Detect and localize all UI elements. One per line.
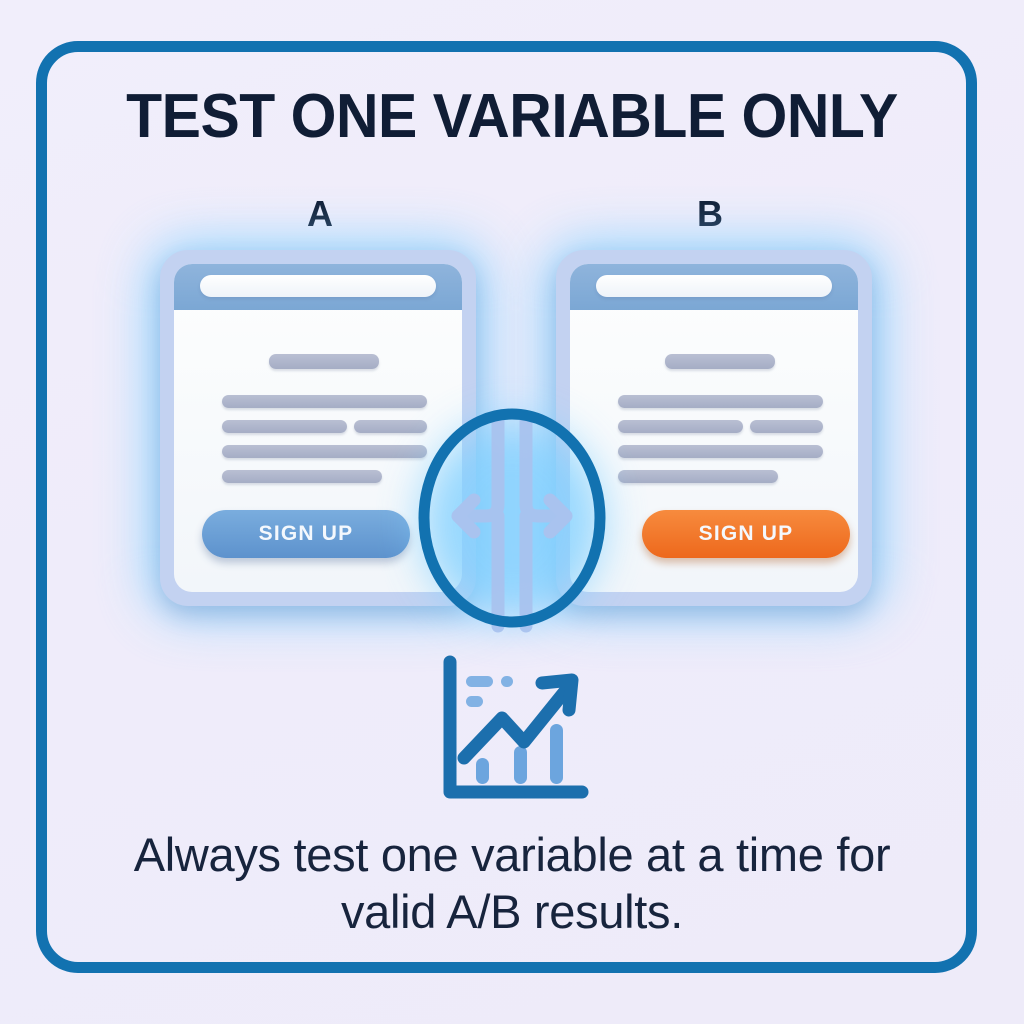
- placeholder-heading: [665, 354, 775, 369]
- card-a-titlebar: [174, 264, 462, 310]
- placeholder-line: [618, 420, 743, 433]
- card-b-body: SIGN UP: [570, 310, 858, 592]
- placeholder-line: [222, 420, 347, 433]
- placeholder-line: [618, 395, 823, 408]
- placeholder-line: [222, 395, 427, 408]
- placeholder-line: [618, 445, 823, 458]
- sign-up-button-b[interactable]: SIGN UP: [642, 510, 850, 558]
- placeholder-line: [222, 445, 427, 458]
- sign-up-button-a[interactable]: SIGN UP: [202, 510, 410, 558]
- infographic-canvas: TEST ONE VARIABLE ONLY A B SIGN UP: [0, 0, 1024, 1024]
- card-b-titlebar: [570, 264, 858, 310]
- placeholder-line: [222, 470, 382, 483]
- growth-chart-icon: [432, 650, 592, 810]
- caption-text: Always test one variable at a time for v…: [112, 826, 912, 941]
- placeholder-heading: [269, 354, 379, 369]
- card-b-screen: SIGN UP: [570, 264, 858, 592]
- split-arrows-circle-icon: [412, 408, 612, 638]
- placeholder-line: [750, 420, 823, 433]
- card-a-url-bar: [200, 275, 436, 297]
- placeholder-line: [618, 470, 778, 483]
- card-b-url-bar: [596, 275, 832, 297]
